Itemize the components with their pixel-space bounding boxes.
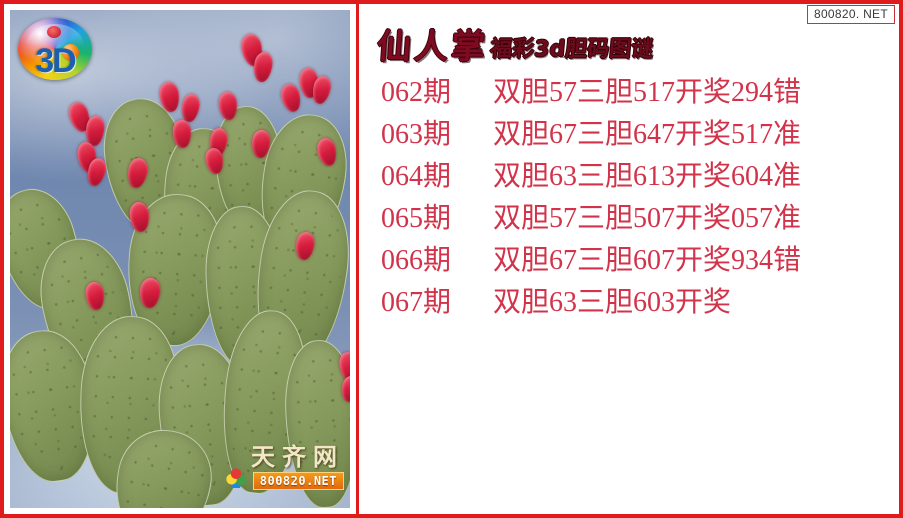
list-item: 062期双胆57三胆517开奖294错	[359, 72, 899, 114]
issue-detail: 双胆63三胆603开奖	[493, 287, 731, 318]
list-item: 063期双胆67三胆647开奖517准	[359, 114, 899, 156]
cactus-fruit-group	[10, 10, 350, 508]
issue-number: 063期	[381, 114, 493, 156]
issue-number: 066期	[381, 240, 493, 282]
image-panel: 3D 天齐网 800820.NET	[4, 4, 356, 514]
lottery-3d-logo-icon: 3D	[18, 18, 92, 80]
issue-detail: 双胆67三胆607开奖934错	[493, 245, 801, 276]
title-subtitle-text: 福彩3d胆码图谜	[489, 38, 654, 64]
list-item: 067期双胆63三胆603开奖	[359, 282, 899, 324]
issue-detail: 双胆57三胆507开奖057准	[493, 203, 801, 234]
cactus-photo: 3D 天齐网 800820.NET	[10, 10, 350, 508]
logo-knot	[47, 26, 61, 38]
content-panel: 800820. NET 仙人掌 福彩3d胆码图谜 062期双胆57三胆517开奖…	[359, 4, 899, 514]
page-title: 仙人掌 福彩3d胆码图谜	[359, 4, 899, 64]
issue-number: 067期	[381, 282, 493, 324]
issue-number: 064期	[381, 156, 493, 198]
logo-3d-text: 3D	[18, 44, 92, 78]
list-item: 066期双胆67三胆607开奖934错	[359, 240, 899, 282]
prediction-list: 062期双胆57三胆517开奖294错 063期双胆67三胆647开奖517准 …	[359, 64, 899, 324]
issue-detail: 双胆57三胆517开奖294错	[493, 77, 801, 108]
list-item: 065期双胆57三胆507开奖057准	[359, 198, 899, 240]
title-main-text: 仙人掌	[376, 30, 489, 64]
issue-detail: 双胆63三胆613开奖604准	[493, 161, 801, 192]
issue-number: 062期	[381, 72, 493, 114]
issue-detail: 双胆67三胆647开奖517准	[493, 119, 801, 150]
page-frame: 3D 天齐网 800820.NET 800820. NET 仙人掌 福彩3d胆码…	[0, 0, 903, 518]
issue-number: 065期	[381, 198, 493, 240]
list-item: 064期双胆63三胆613开奖604准	[359, 156, 899, 198]
